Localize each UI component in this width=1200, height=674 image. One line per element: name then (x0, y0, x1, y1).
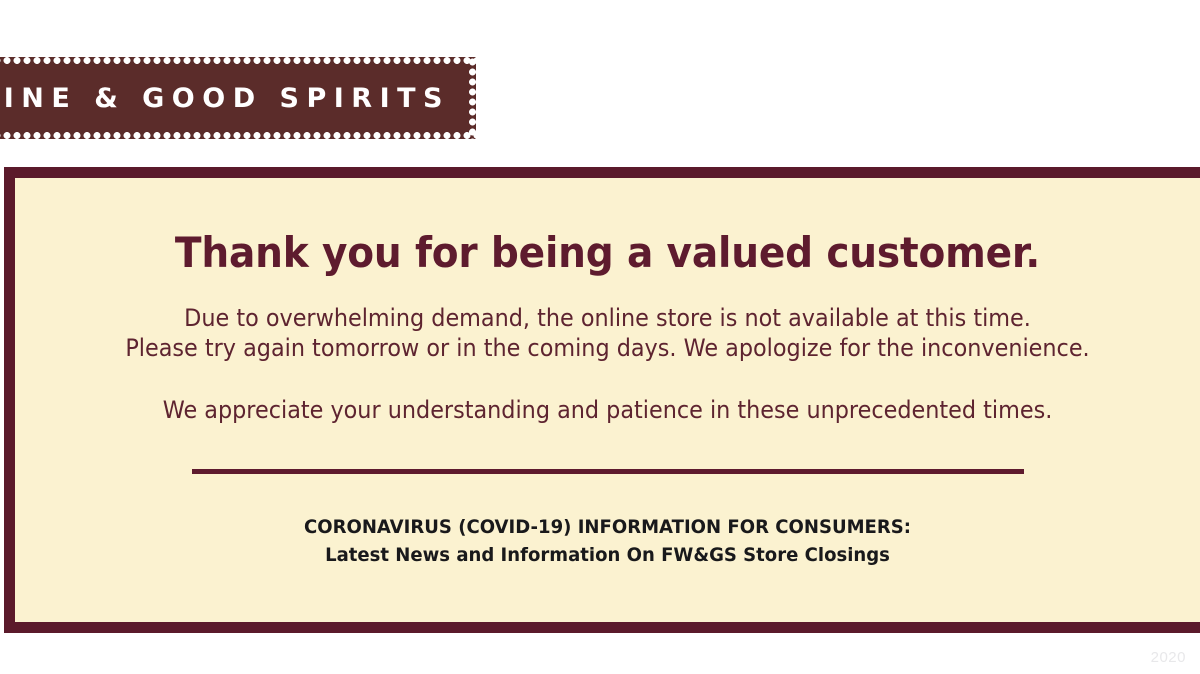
brand-logo-text: NE WINE & GOOD SPIRITS (0, 85, 450, 112)
notice-headline: Thank you for being a valued customer. (84, 230, 1130, 276)
notice-body: Due to overwhelming demand, the online s… (84, 304, 1130, 425)
notice-paragraph-2: Please try again tomorrow or in the comi… (84, 334, 1130, 364)
notice-paragraph-1: Due to overwhelming demand, the online s… (84, 304, 1130, 334)
notice-card-content: Thank you for being a valued customer. D… (15, 178, 1200, 622)
covid-info-title: CORONAVIRUS (COVID-19) INFORMATION FOR C… (73, 514, 1142, 542)
covid-info-block[interactable]: CORONAVIRUS (COVID-19) INFORMATION FOR C… (73, 514, 1142, 569)
notice-paragraph-3: We appreciate your understanding and pat… (84, 396, 1130, 426)
covid-info-link[interactable]: Latest News and Information On FW&GS Sto… (73, 542, 1142, 570)
notice-card: Thank you for being a valued customer. D… (4, 167, 1200, 633)
section-divider (192, 469, 1024, 474)
brand-logo-banner[interactable]: NE WINE & GOOD SPIRITS (0, 57, 476, 139)
stamp-perforation-icon (469, 57, 476, 139)
year-watermark: 2020 (1151, 649, 1186, 666)
site-header: NE WINE & GOOD SPIRITS (0, 0, 1200, 160)
